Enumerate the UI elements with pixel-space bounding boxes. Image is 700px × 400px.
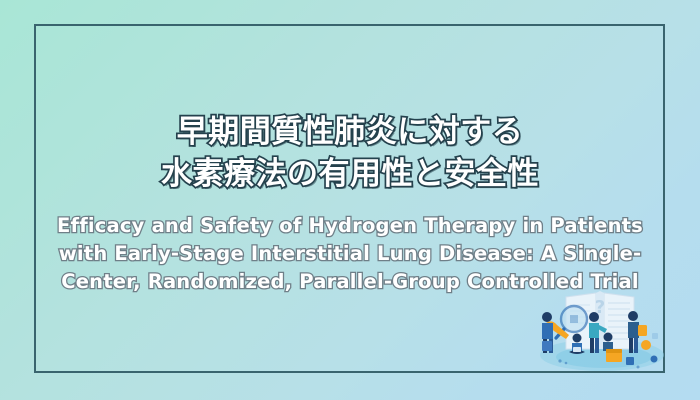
japanese-title-line-2: 水素療法の有用性と安全性 [161,154,539,194]
english-subtitle-line-2: with Early-Stage Interstitial Lung Disea… [38,240,663,268]
research-book-people-illustration: ? [530,275,670,375]
japanese-title-line-1: 早期間質性肺炎に対する [177,112,524,152]
english-subtitle-line-1: Efficacy and Safety of Hydrogen Therapy … [38,212,663,240]
title-slide: 早期間質性肺炎に対する 水素療法の有用性と安全性 Efficacy and Sa… [0,0,700,400]
